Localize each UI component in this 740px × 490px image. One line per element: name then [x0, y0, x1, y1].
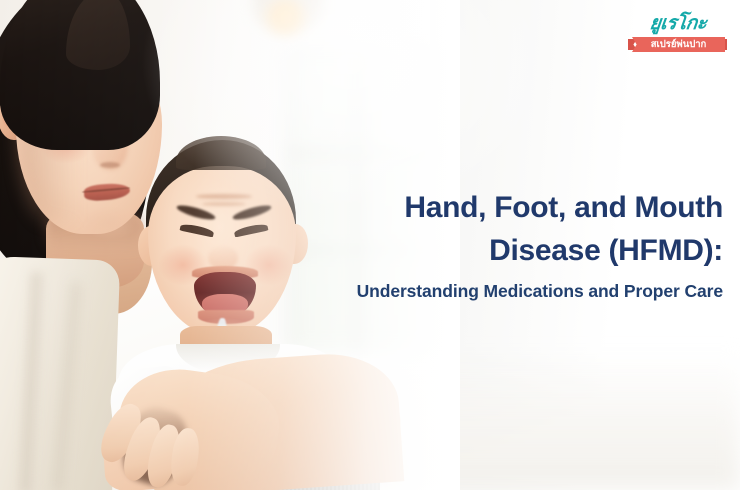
subheadline: Understanding Medications and Proper Car… [303, 278, 723, 304]
headline-line-2: Disease (HFMD): [303, 229, 723, 272]
baby-forehead-crease [196, 194, 252, 199]
mother-nostril [100, 162, 120, 168]
headline-line-1: Hand, Foot, and Mouth [303, 186, 723, 229]
headline-block: Hand, Foot, and Mouth Disease (HFMD): Un… [303, 186, 723, 304]
logo-wordmark: ยูเรโกะ [626, 9, 729, 39]
hfmd-article-banner: Hand, Foot, and Mouth Disease (HFMD): Un… [0, 0, 740, 490]
mother-hair-part [66, 0, 130, 70]
logo-tagline: สเปรย์พ่นปาก [632, 37, 725, 52]
mother-chin [80, 206, 140, 240]
baby-forehead-crease-lower [202, 202, 246, 206]
ureka-logo[interactable]: ยูเรโกะ สเปรย์พ่นปาก [628, 9, 728, 57]
baby-hair-fringe [176, 136, 266, 170]
